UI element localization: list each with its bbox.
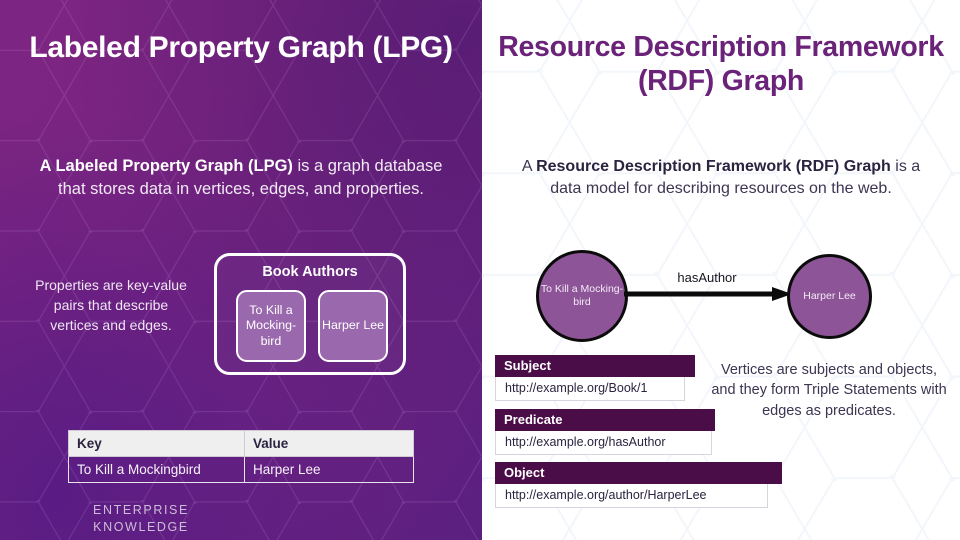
triple-box-subject: Subject http://example.org/Book/1	[495, 355, 695, 401]
book-authors-card-title: Book Authors	[217, 264, 403, 280]
table-header-key: Key	[69, 431, 245, 457]
graph-edge-label: hasAuthor	[652, 270, 762, 285]
graph-node-subject-label: To Kill a Mocking-bird	[539, 283, 625, 309]
graph-node-object: Harper Lee	[787, 254, 872, 339]
table-header-value: Value	[245, 431, 414, 457]
triple-box-predicate: Predicate http://example.org/hasAuthor	[495, 409, 715, 455]
table-cell-key: To Kill a Mockingbird	[69, 457, 245, 483]
property-node-author-label: Harper Lee	[322, 318, 384, 333]
rdf-title: Resource Description Framework (RDF) Gra…	[488, 30, 954, 99]
graph-node-object-label: Harper Lee	[803, 290, 856, 303]
lpg-description-bold: A Labeled Property Graph (LPG)	[40, 157, 293, 175]
rdf-description: A Resource Description Framework (RDF) G…	[514, 156, 928, 200]
triple-subject-header: Subject	[495, 355, 695, 377]
triple-subject-value: http://example.org/Book/1	[495, 377, 685, 401]
triple-box-object: Object http://example.org/author/HarperL…	[495, 462, 782, 508]
graph-edge-arrow-icon	[624, 286, 799, 302]
key-value-table: Key Value To Kill a Mockingbird Harper L…	[68, 430, 414, 483]
rdf-vertices-note: Vertices are subjects and objects, and t…	[710, 360, 948, 421]
property-node-book-label: To Kill a Mocking-bird	[240, 303, 302, 348]
lpg-description: A Labeled Property Graph (LPG) is a grap…	[30, 155, 452, 200]
table-row: To Kill a Mockingbird Harper Lee	[69, 457, 414, 483]
property-node-author: Harper Lee	[318, 290, 388, 362]
table-header-row: Key Value	[69, 431, 414, 457]
property-node-book: To Kill a Mocking-bird	[236, 290, 306, 362]
rdf-description-prefix: A	[522, 158, 536, 175]
lpg-properties-note: Properties are key-value pairs that desc…	[28, 276, 194, 336]
rdf-description-bold: Resource Description Framework (RDF) Gra…	[536, 158, 891, 175]
slide-root: Labeled Property Graph (LPG) A Labeled P…	[0, 0, 960, 540]
enterprise-knowledge-logo: ENTERPRISE KNOWLEDGE	[56, 502, 226, 536]
graph-node-subject: To Kill a Mocking-bird	[536, 250, 628, 342]
triple-object-value: http://example.org/author/HarperLee	[495, 484, 768, 508]
triple-predicate-value: http://example.org/hasAuthor	[495, 431, 712, 455]
book-authors-card: Book Authors To Kill a Mocking-bird Harp…	[214, 253, 406, 375]
rdf-panel: Resource Description Framework (RDF) Gra…	[482, 0, 960, 540]
lpg-title: Labeled Property Graph (LPG)	[20, 30, 462, 66]
triple-object-header: Object	[495, 462, 782, 484]
table-cell-value: Harper Lee	[245, 457, 414, 483]
triple-predicate-header: Predicate	[495, 409, 715, 431]
lpg-panel: Labeled Property Graph (LPG) A Labeled P…	[0, 0, 482, 540]
rdf-graph-diagram: To Kill a Mocking-bird hasAuthor Harper …	[512, 242, 952, 350]
